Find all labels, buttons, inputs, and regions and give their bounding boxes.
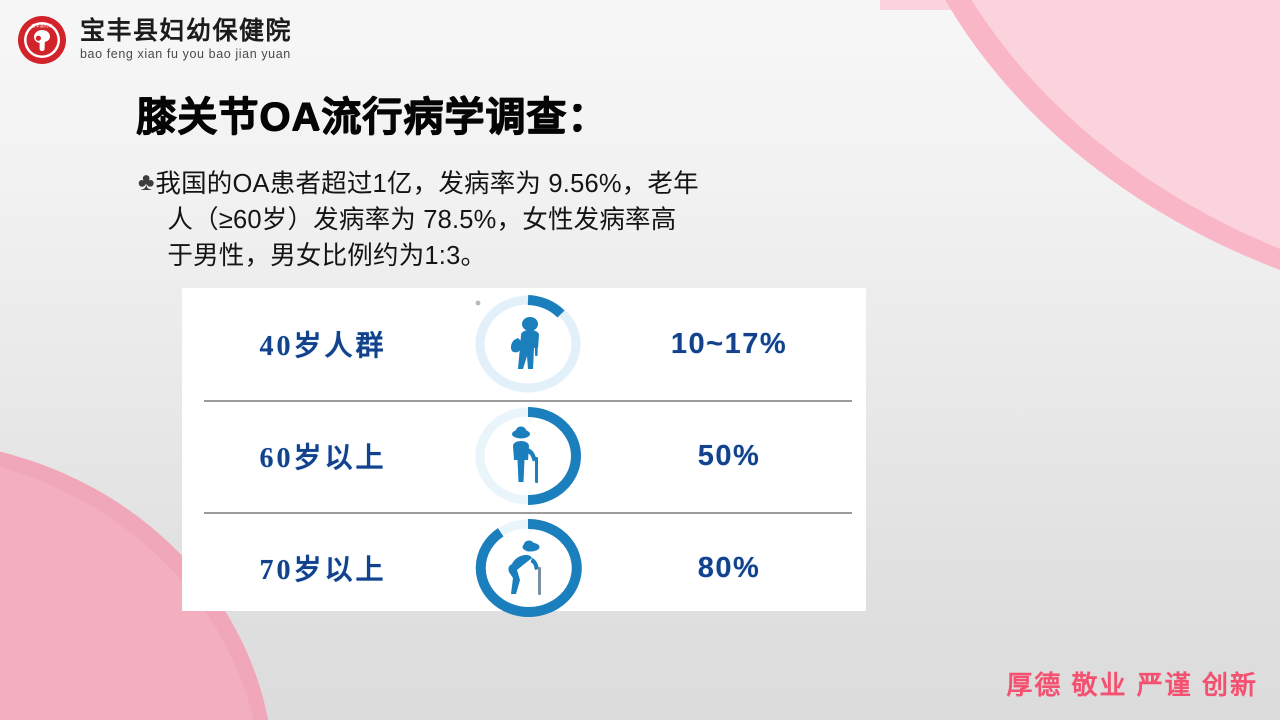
footer-motto: 厚德 敬业 严谨 创新 (1006, 665, 1258, 702)
donut-chart (448, 288, 608, 400)
bullet-text: 我国的OA患者超过1亿，发病率为 9.56%，老年 人（≥60岁）发病率为 78… (155, 166, 698, 275)
bullet-block: ♣ 我国的OA患者超过1亿，发病率为 9.56%，老年 人（≥60岁）发病率为 … (138, 166, 868, 275)
bullet-line-2: 人（≥60岁）发病率为 78.5%，女性发病率高 (155, 202, 698, 238)
club-bullet-icon: ♣ (138, 166, 154, 200)
prevalence-infographic-panel: 40岁人群 10~17% 60岁以上 (182, 288, 866, 611)
donut-chart (448, 400, 608, 512)
age-group-label: 70岁以上 (198, 548, 448, 588)
infographic-row: 40岁人群 10~17% (182, 288, 866, 400)
bullet-line-3: 于男性，男女比例约为1:3。 (155, 238, 698, 274)
slide-canvas: 宝丰县妇幼 宝丰县妇幼保健院 bao feng xian fu you bao … (0, 0, 1280, 720)
top-right-pink-curve-light (898, 0, 1280, 310)
infographic-row: 70岁以上 80% (182, 512, 866, 624)
page-title: 膝关节OA流行病学调查： (136, 84, 608, 142)
elderly-with-cane-icon (465, 400, 591, 512)
infographic-row: 60岁以上 50% (182, 400, 866, 512)
svg-text:宝丰县妇幼: 宝丰县妇幼 (32, 22, 53, 29)
top-right-pink-strip (880, 0, 1280, 10)
hospital-name-pinyin: bao feng xian fu you bao jian yuan (80, 47, 292, 62)
age-group-label: 60岁以上 (198, 436, 448, 476)
hunched-elderly-with-cane-icon (465, 512, 591, 624)
donut-chart (448, 512, 608, 624)
hospital-name-cn: 宝丰县妇幼保健院 (80, 18, 292, 45)
walking-person-icon (465, 288, 591, 400)
age-group-label: 40岁人群 (198, 324, 448, 364)
hospital-header: 宝丰县妇幼 宝丰县妇幼保健院 bao feng xian fu you bao … (16, 14, 292, 66)
prevalence-value: 80% (608, 552, 850, 585)
bullet-item: ♣ 我国的OA患者超过1亿，发病率为 9.56%，老年 人（≥60岁）发病率为 … (138, 166, 868, 275)
bullet-line-1: 我国的OA患者超过1亿，发病率为 9.56%，老年 (155, 166, 698, 202)
prevalence-value: 10~17% (608, 328, 850, 361)
hospital-name-block: 宝丰县妇幼保健院 bao feng xian fu you bao jian y… (80, 18, 292, 62)
top-right-pink-curve (880, 0, 1280, 324)
hospital-seal-icon: 宝丰县妇幼 (16, 14, 68, 66)
prevalence-value: 50% (608, 440, 850, 473)
